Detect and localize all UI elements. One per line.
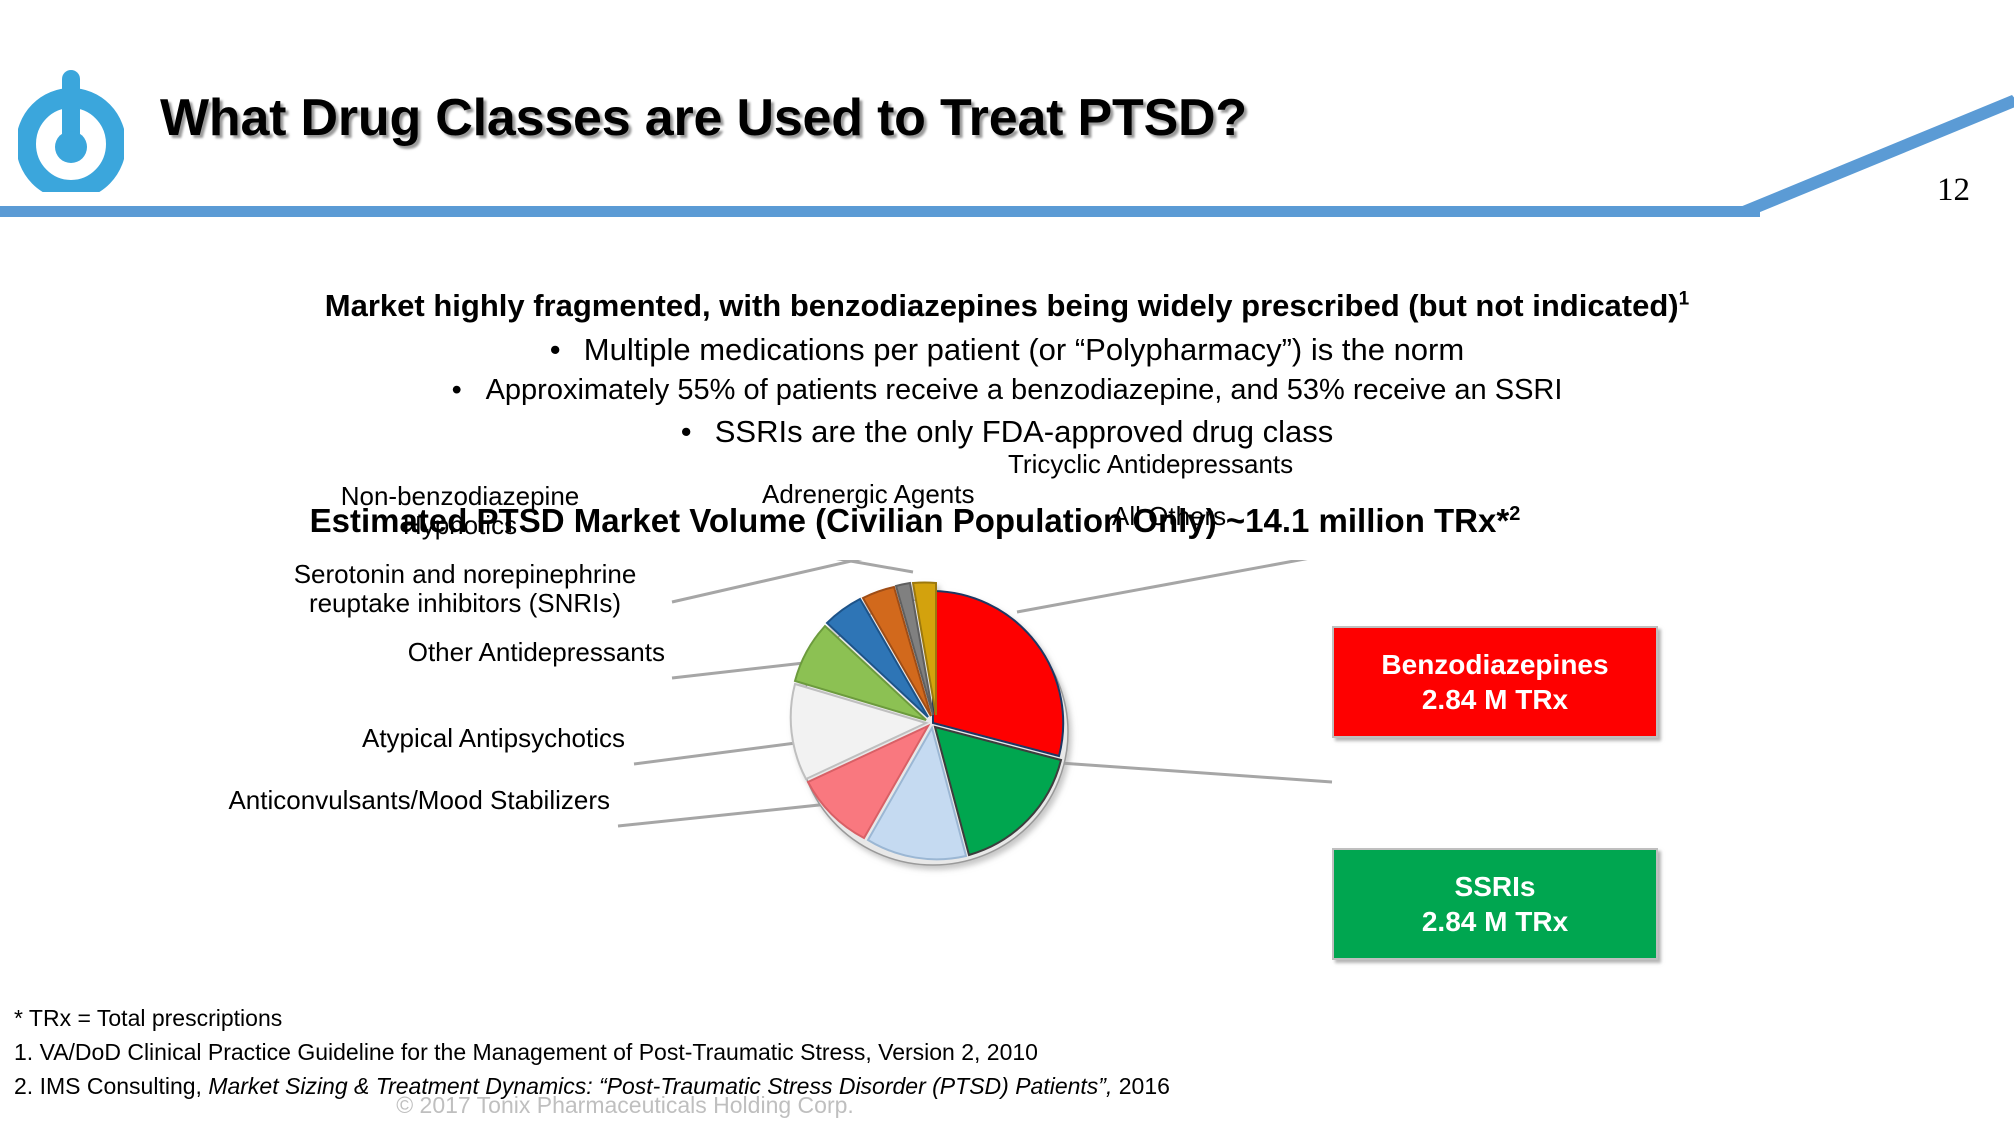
benzodiazepines-callout-box: Benzodiazepines 2.84 M TRx xyxy=(1332,626,1658,738)
lead-text: Market highly fragmented, with benzodiaz… xyxy=(325,288,1679,323)
pie-label-atypical-antipsychotics: Atypical Antipsychotics xyxy=(220,724,625,753)
header-diagonal-accent xyxy=(1740,95,2014,220)
callout-title: SSRIs xyxy=(1422,869,1568,904)
bullet-item: •Multiple medications per patient (or “P… xyxy=(0,332,2014,368)
footnote-asterisk: * TRx = Total prescriptions xyxy=(14,1005,282,1032)
tonix-power-logo-icon xyxy=(18,62,124,192)
header-rule xyxy=(0,206,1760,217)
lead-superscript: 1 xyxy=(1679,289,1690,310)
bullet-text: Multiple medications per patient (or “Po… xyxy=(584,332,1464,367)
chart-heading-superscript: 2 xyxy=(1509,503,1520,525)
callout-value: 2.84 M TRx xyxy=(1422,904,1568,939)
pie-label-line: reuptake inhibitors (SNRIs) xyxy=(255,589,675,618)
callout-title: Benzodiazepines xyxy=(1381,647,1608,682)
pie-svg xyxy=(770,560,1100,890)
bullet-text: SSRIs are the only FDA-approved drug cla… xyxy=(715,414,1334,449)
pie-label-all-others: All Others xyxy=(1112,502,1362,531)
pie-label-snris: Serotonin and norepinephrine reuptake in… xyxy=(255,560,675,618)
slide: What Drug Classes are Used to Treat PTSD… xyxy=(0,0,2014,1125)
pie-label-non-benzo-hypnotics: Non-benzodiazepine Hypnotics xyxy=(290,482,630,540)
pie-label-tricyclic-antidepressants: Tricyclic Antidepressants xyxy=(1008,450,1358,479)
page-title: What Drug Classes are Used to Treat PTSD… xyxy=(160,88,1410,148)
bullet-item: •SSRIs are the only FDA-approved drug cl… xyxy=(0,414,2014,450)
bullet-text: Approximately 55% of patients receive a … xyxy=(486,374,1563,406)
pie-label-line: Serotonin and norepinephrine xyxy=(255,560,675,589)
bullet-glyph: • xyxy=(452,374,486,407)
bullet-item: •Approximately 55% of patients receive a… xyxy=(0,374,2014,407)
pie-label-line: Hypnotics xyxy=(290,511,630,540)
copyright-notice: © 2017 Tonix Pharmaceuticals Holding Cor… xyxy=(0,1092,1250,1119)
pie-label-adrenergic-agents: Adrenergic Agents xyxy=(762,480,1092,509)
ssris-callout-box: SSRIs 2.84 M TRx xyxy=(1332,848,1658,960)
pie-chart: Non-benzodiazepine Hypnotics Serotonin a… xyxy=(0,560,2014,1030)
footnote-one: 1. VA/DoD Clinical Practice Guideline fo… xyxy=(14,1039,1038,1066)
pie-label-anticonvulsants: Anticonvulsants/Mood Stabilizers xyxy=(185,786,610,815)
pie-label-other-antidepressants: Other Antidepressants xyxy=(260,638,665,667)
pie-label-line: Non-benzodiazepine xyxy=(290,482,630,511)
callout-value: 2.84 M TRx xyxy=(1381,682,1608,717)
bullet-glyph: • xyxy=(550,332,584,368)
bullet-glyph: • xyxy=(681,414,715,450)
lead-statement: Market highly fragmented, with benzodiaz… xyxy=(0,288,2014,324)
